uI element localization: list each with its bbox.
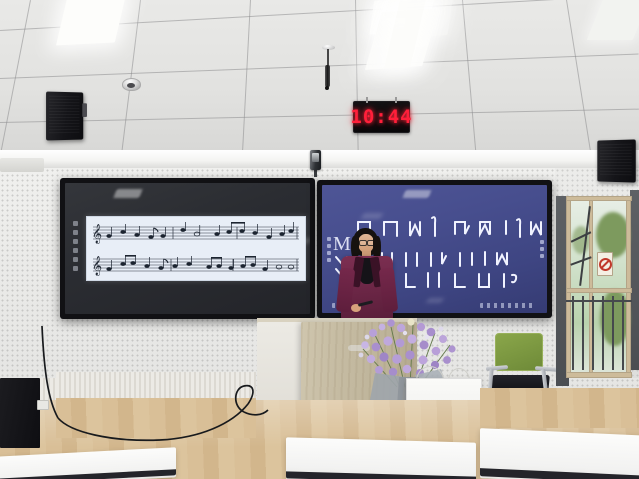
wall-speaker-left [46,92,83,141]
display-cables [0,300,320,460]
music-notation: 𝄞 𝄞 [87,217,305,280]
mic-tip [325,86,329,90]
glasses-icon [359,240,367,246]
pen-icon[interactable] [73,239,78,244]
no-smoking-sign [597,252,613,276]
wall-digital-clock: 10:44 [353,101,410,133]
ceiling-light-1 [56,0,126,45]
window-frame-bottom [566,372,632,378]
window-railing-bar [602,296,604,370]
window-frame-vertical [566,196,571,378]
eraser-icon[interactable] [73,248,78,253]
clock-time: 10:44 [350,106,412,128]
teacher-figure [335,228,401,323]
wall-vent [0,158,44,172]
window-railing-bar [622,296,624,370]
window-railing-bar [592,296,594,370]
wall-camera-icon [310,150,321,170]
svg-text:𝄞: 𝄞 [92,256,102,276]
ceiling-light-6 [587,0,639,40]
hanging-microphone-icon [325,65,330,87]
screen-toolbar-left[interactable] [71,221,79,271]
window-frame-mid [566,288,632,293]
more-icon[interactable] [73,266,78,271]
window-railing-bar [582,296,584,370]
window-railing-bar [572,296,574,370]
teacher-arm-right [379,267,399,312]
window-railing-bar [612,296,614,370]
classroom-photo: 10:44 [0,0,639,479]
window-frame-vertical [626,196,631,376]
wall-speaker-right [597,139,635,182]
back-icon[interactable] [73,230,78,235]
screen-glare [113,189,143,198]
menu-icon[interactable] [73,221,78,226]
board-bottom-toolbar-right[interactable] [480,303,534,308]
sheet-music-screen[interactable]: 𝄞 𝄞 [60,178,315,319]
svg-text:𝄞: 𝄞 [92,224,102,244]
dome-camera-icon [122,78,141,91]
no-smoking-icon [599,258,612,271]
wood-floor-right [480,388,639,428]
window-recess-wall [630,190,639,370]
window-frame-top [566,196,632,201]
suspended-ceiling [0,0,639,158]
sheet-music-page: 𝄞 𝄞 [86,216,306,281]
select-icon[interactable] [73,257,78,262]
